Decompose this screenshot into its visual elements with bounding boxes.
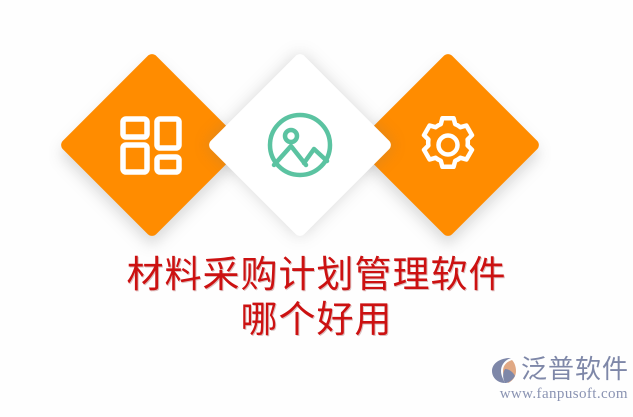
- gear-settings-icon: [416, 113, 480, 177]
- headline: 材料采购计划管理软件 哪个好用: [0, 252, 633, 342]
- brand-url: www.fanpusoft.com: [500, 386, 628, 403]
- brand-logo-row: 泛普软件: [489, 355, 629, 385]
- headline-line-2: 哪个好用: [0, 297, 633, 342]
- grid-apps-icon: [119, 113, 185, 177]
- brand-logo[interactable]: 泛普软件 www.fanpusoft.com: [489, 355, 629, 403]
- headline-line-1: 材料采购计划管理软件: [0, 252, 633, 297]
- image-photo-icon: [266, 111, 334, 179]
- tile-image[interactable]: [207, 52, 394, 239]
- brand-name: 泛普软件: [521, 356, 629, 384]
- poster-canvas: 材料采购计划管理软件 哪个好用 泛普软件 www.fanpusoft.com: [0, 0, 633, 417]
- fanpu-logo-icon: [489, 355, 519, 385]
- diamond-tile-row: [0, 0, 633, 260]
